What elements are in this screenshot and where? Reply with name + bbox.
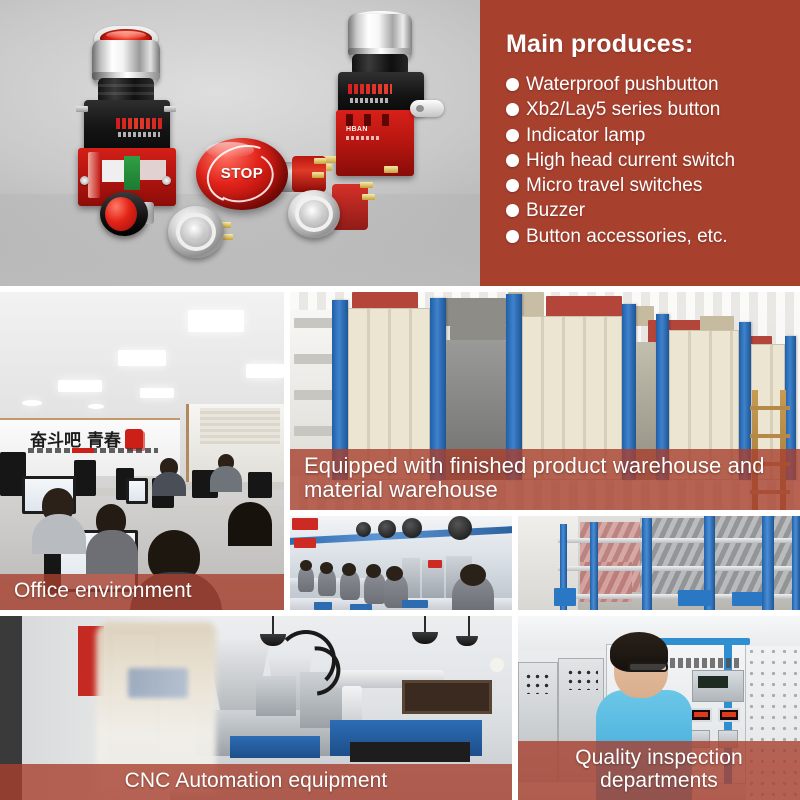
blue-bin [554, 588, 576, 606]
glasses-icon [628, 662, 668, 672]
stored-goods [710, 516, 798, 598]
fist-graphic [125, 429, 143, 449]
ceiling-light [58, 380, 102, 392]
brass-pin [362, 194, 375, 200]
produces-item-label: High head current switch [526, 148, 735, 173]
cabinet-terminals [524, 672, 552, 694]
produces-item: Xb2/Lay5 series button [506, 97, 800, 122]
machine-base [350, 742, 470, 762]
bullet-icon [506, 179, 519, 192]
worker-head [300, 560, 312, 571]
production-line-photo [290, 516, 512, 610]
monitor-back [74, 460, 96, 496]
produces-item-label: Waterproof pushbutton [526, 72, 719, 97]
downlight [22, 400, 42, 406]
metal-antivandal-switch [168, 206, 242, 262]
worker-head [342, 563, 356, 576]
downlight [88, 404, 104, 409]
caption-quality: Quality inspection departments [518, 741, 800, 800]
produces-item-label: Indicator lamp [526, 123, 645, 148]
ceiling-light [140, 388, 174, 398]
blue-bin [314, 602, 332, 610]
lens-highlight [106, 31, 146, 39]
ceiling-fan [378, 520, 396, 538]
cap-highlight [206, 142, 254, 158]
produces-item: Buzzer [506, 198, 800, 223]
stop-label: STOP [210, 165, 274, 182]
carton-grey [450, 326, 512, 340]
illuminated-pushbutton-red [72, 26, 180, 216]
person-body [32, 514, 86, 554]
bullet-icon [506, 154, 519, 167]
produces-item: Waterproof pushbutton [506, 72, 800, 97]
window-blind [200, 408, 280, 444]
caption-office: Office environment [0, 574, 284, 610]
blue-trim [658, 638, 750, 645]
chinese-brand-mark [116, 118, 164, 129]
produces-item: Micro travel switches [506, 173, 800, 198]
warehouse-photo: Equipped with finished product warehouse… [290, 292, 800, 510]
digital-readout [718, 708, 740, 722]
pendant-lamp [456, 636, 478, 646]
lamp-cord [468, 616, 470, 638]
metal-switch-with-terminal [288, 182, 374, 248]
cnc-automation-photo: CNC Automation equipment [0, 616, 512, 800]
lamp-cord [272, 616, 274, 636]
blue-bin [350, 604, 372, 610]
ladder-rung [750, 434, 790, 438]
bullet-icon [506, 78, 519, 91]
produces-item-label: Micro travel switches [526, 173, 702, 198]
blue-machine-body [230, 736, 320, 758]
display-board [402, 680, 492, 714]
mounting-tab-left [76, 106, 88, 112]
person-body [210, 466, 242, 492]
caption-cnc: CNC Automation equipment [0, 764, 512, 800]
terminal-screw [162, 176, 171, 185]
rack-post [762, 516, 774, 610]
instrument-display [698, 676, 728, 688]
quality-inspection-photo: Quality inspection departments [518, 616, 800, 800]
switch-center [304, 205, 324, 223]
neck-rib [98, 84, 154, 87]
produces-item-label: Buzzer [526, 198, 585, 223]
terminal-slot [364, 114, 371, 126]
chinese-brand-mark [348, 84, 392, 94]
wall-subtext-accent [72, 448, 94, 453]
produces-item-label: Xb2/Lay5 series button [526, 97, 720, 122]
produces-item: Button accessories, etc. [506, 224, 800, 249]
product-photo: HBAN STOP [0, 0, 480, 286]
switch-center [186, 223, 206, 241]
blue-bin [732, 592, 762, 606]
ceiling-light [118, 350, 166, 366]
carton-grey [442, 298, 506, 326]
digital-readout [690, 708, 712, 722]
office-photo: 奋斗吧 青春 Office environment [0, 292, 284, 610]
worker-head [460, 564, 486, 586]
hban-brand-text: HBAN [346, 126, 368, 133]
caption-warehouse: Equipped with finished product warehouse… [290, 449, 800, 510]
bullet-icon [506, 204, 519, 217]
bullet-icon [506, 129, 519, 142]
brass-pin [312, 172, 324, 178]
worker-head [320, 562, 333, 574]
terminal-label-white [102, 160, 124, 182]
terminal-screw [80, 176, 89, 185]
cabinet-terminals [566, 668, 598, 690]
produces-list: Waterproof pushbutton Xb2/Lay5 series bu… [506, 72, 800, 249]
worker-head [386, 566, 403, 581]
terminal-slot [346, 114, 353, 126]
neck-rib [98, 92, 154, 95]
person-body [152, 472, 186, 496]
terminal-label-green [124, 156, 140, 190]
blue-bin [678, 590, 712, 606]
brass-pin [384, 166, 398, 173]
bullet-icon [506, 103, 519, 116]
pendant-lamp [412, 632, 438, 644]
ceiling-fan [448, 516, 472, 540]
certification-marks [118, 132, 160, 137]
terminal-clip [88, 152, 100, 198]
produces-item-label: Button accessories, etc. [526, 224, 728, 249]
sack-print [128, 668, 188, 698]
red-sign [294, 538, 316, 548]
person-body [228, 502, 272, 546]
blue-bin [402, 600, 428, 608]
produces-item: Indicator lamp [506, 123, 800, 148]
red-sign [292, 518, 318, 530]
red-button-face [105, 197, 137, 231]
infographic-page: HBAN STOP [0, 0, 800, 800]
ceiling-fan [356, 522, 371, 537]
main-produces-panel: Main produces: Waterproof pushbutton Xb2… [480, 0, 800, 286]
illuminated-pushbutton-white: HBAN [326, 14, 438, 184]
rack-post [792, 516, 800, 610]
ceiling-fan [402, 518, 422, 538]
produces-item: High head current switch [506, 148, 800, 173]
ladder-rung [750, 406, 790, 410]
mounting-tab-right [164, 106, 176, 112]
certification-marks [350, 98, 388, 103]
small-red-pushbutton [100, 192, 156, 240]
main-produces-title: Main produces: [506, 30, 800, 59]
monitor-back [248, 472, 272, 498]
rack-post [590, 522, 598, 610]
ceiling-light [246, 364, 284, 378]
bullet-icon [506, 230, 519, 243]
monitor-screen [126, 478, 148, 504]
bulb-icon [490, 658, 504, 672]
red-sign [428, 560, 442, 568]
worker-head [366, 564, 381, 578]
rack-post [642, 518, 652, 610]
brass-pin [360, 182, 373, 188]
material-racks-photo [518, 516, 800, 610]
brass-pin [314, 158, 326, 164]
ceiling-light [188, 310, 244, 332]
key-hole [416, 105, 424, 112]
person-body [86, 530, 138, 574]
terminal-slot [382, 114, 389, 126]
terminal-spec-text [346, 136, 380, 140]
